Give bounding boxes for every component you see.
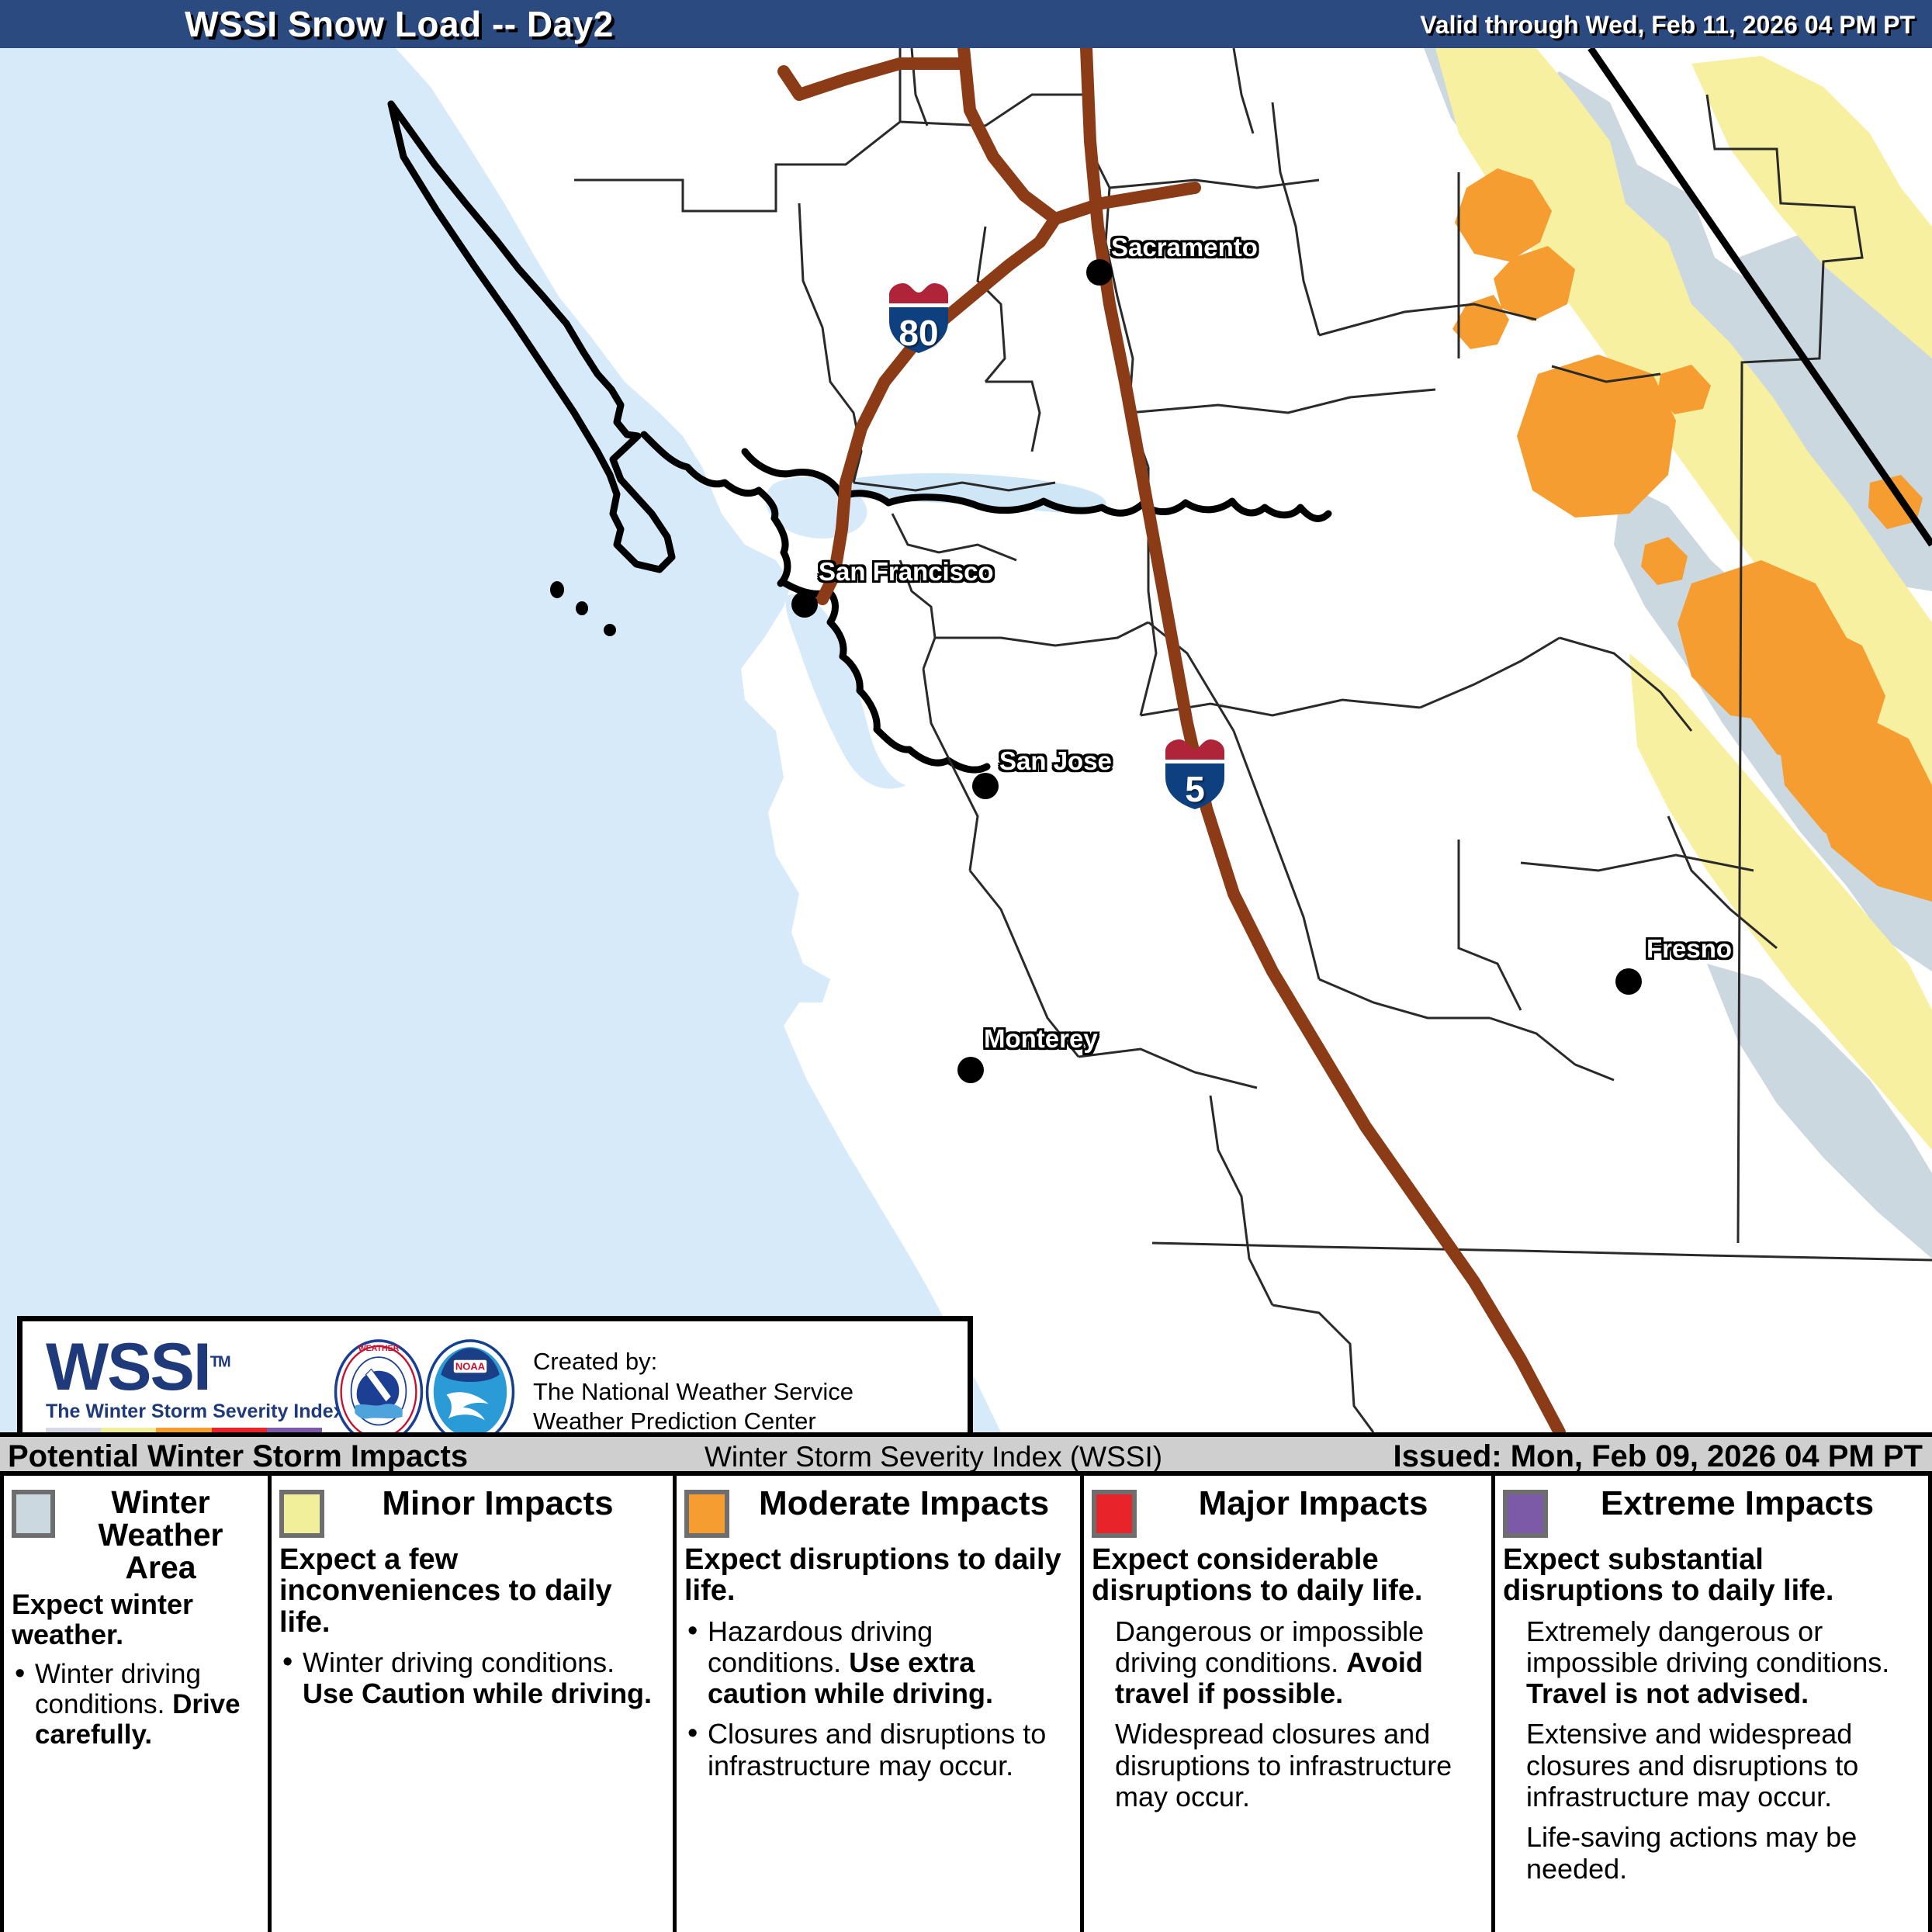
legend-bullets: Winter driving conditions. Use Caution w…: [279, 1647, 665, 1710]
created-by-block: Created by: The National Weather Service…: [533, 1347, 853, 1432]
city-label-sacramento: Sacramento: [1111, 233, 1258, 262]
created-by-line-2: The National Weather Service: [533, 1377, 853, 1407]
legend-bullet: Closures and disruptions to infrastructu…: [684, 1719, 1072, 1781]
wssi-brand-mark: WSSITM The Winter Storm Severity Index: [23, 1336, 333, 1432]
status-bar-left-label: Potential Winter Storm Impacts: [8, 1439, 468, 1474]
legend-bullets: Hazardous driving conditions. Use extra …: [684, 1616, 1072, 1782]
legend-bullet: Extremely dangerous or impossible drivin…: [1503, 1616, 1920, 1710]
legend-bullet: Winter driving conditions. Drive careful…: [12, 1659, 260, 1750]
page-title: WSSI Snow Load -- Day2: [185, 3, 614, 45]
interstate-number-5: 5: [1162, 768, 1227, 810]
wssi-snow-load-map-page: WSSI Snow Load -- Day2 Valid through Wed…: [0, 0, 1932, 1932]
wssi-logo-box: WSSITM The Winter Storm Severity Index: [17, 1316, 973, 1432]
map-canvas[interactable]: Sacramento San Francisco San Jose Fresno…: [0, 48, 1932, 1432]
legend-bullet: Widespread closures and disruptions to i…: [1092, 1719, 1484, 1813]
legend-lead-winter-weather-area: Expect winter weather.: [12, 1590, 260, 1649]
interstate-shield-5: 5: [1162, 737, 1227, 812]
wssi-wordmark: WSSITM: [46, 1336, 333, 1400]
legend-swatch-moderate-impacts: [684, 1490, 729, 1538]
city-dot-sacramento: [1086, 259, 1113, 286]
legend-bullet: Winter driving conditions. Use Caution w…: [279, 1647, 665, 1710]
noaa-seal-icon: NOAA: [424, 1338, 516, 1432]
status-bar-issued-label: Issued: Mon, Feb 09, 2026 04 PM PT: [1394, 1439, 1923, 1474]
legend-title-extreme-impacts: Extreme Impacts: [1548, 1487, 1920, 1522]
impact-legend: Winter Weather Area Expect winter weathe…: [0, 1476, 1932, 1932]
city-dot-fresno: [1615, 968, 1642, 995]
island-farallon-1: [550, 581, 564, 598]
legend-lead-minor-impacts: Expect a few inconveniences to daily lif…: [279, 1544, 665, 1638]
city-label-san-francisco: San Francisco: [819, 557, 994, 587]
legend-header: Major Impacts: [1092, 1487, 1484, 1538]
legend-swatch-major-impacts: [1092, 1490, 1137, 1538]
legend-swatch-extreme-impacts: [1503, 1490, 1548, 1538]
status-bar-center-label: Winter Storm Severity Index (WSSI): [705, 1441, 1162, 1473]
island-farallon-2: [576, 601, 588, 615]
legend-title-major-impacts: Major Impacts: [1137, 1487, 1484, 1522]
interstate-number-80: 80: [886, 312, 951, 354]
legend-bullets: Winter driving conditions. Drive careful…: [12, 1659, 260, 1750]
legend-lead-extreme-impacts: Expect substantial disruptions to daily …: [1503, 1544, 1920, 1607]
legend-swatch-minor-impacts: [279, 1490, 324, 1538]
wssi-subtitle: The Winter Storm Severity Index: [46, 1401, 333, 1423]
legend-bullet: Hazardous driving conditions. Use extra …: [684, 1616, 1072, 1710]
legend-title-winter-weather-area: Winter Weather Area: [55, 1487, 260, 1584]
legend-column-major-impacts[interactable]: Major Impacts Expect considerable disrup…: [1080, 1476, 1491, 1932]
city-label-monterey: Monterey: [984, 1024, 1098, 1054]
legend-header: Moderate Impacts: [684, 1487, 1072, 1538]
legend-bullets: Dangerous or impossible driving conditio…: [1092, 1616, 1484, 1813]
svg-text:NOAA: NOAA: [455, 1361, 486, 1373]
trademark-symbol: TM: [210, 1353, 230, 1370]
legend-column-moderate-impacts[interactable]: Moderate Impacts Expect disruptions to d…: [673, 1476, 1080, 1932]
legend-header: Winter Weather Area: [12, 1487, 260, 1584]
island-farallon-3: [604, 624, 616, 636]
city-dot-monterey: [957, 1057, 984, 1083]
legend-bullet: Dangerous or impossible driving conditio…: [1092, 1616, 1484, 1710]
legend-column-minor-impacts[interactable]: Minor Impacts Expect a few inconvenience…: [268, 1476, 673, 1932]
city-dot-san-francisco: [791, 591, 818, 618]
city-label-fresno: Fresno: [1646, 934, 1732, 964]
legend-lead-major-impacts: Expect considerable disruptions to daily…: [1092, 1544, 1484, 1607]
legend-lead-moderate-impacts: Expect disruptions to daily life.: [684, 1544, 1072, 1607]
title-bar: WSSI Snow Load -- Day2 Valid through Wed…: [0, 0, 1932, 48]
legend-title-minor-impacts: Minor Impacts: [324, 1487, 665, 1522]
city-label-san-jose: San Jose: [999, 746, 1112, 776]
legend-header: Minor Impacts: [279, 1487, 665, 1538]
legend-column-winter-weather-area[interactable]: Winter Weather Area Expect winter weathe…: [4, 1476, 268, 1932]
created-by-line-1: Created by:: [533, 1347, 853, 1376]
legend-column-extreme-impacts[interactable]: Extreme Impacts Expect substantial disru…: [1491, 1476, 1928, 1932]
legend-bullet: Life-saving actions may be needed.: [1503, 1822, 1920, 1885]
svg-text:WEATHER: WEATHER: [358, 1344, 400, 1353]
map-graphics: [0, 48, 1932, 1432]
legend-bullet: Extensive and widespread closures and di…: [1503, 1719, 1920, 1813]
legend-header: Extreme Impacts: [1503, 1487, 1920, 1538]
legend-swatch-winter-weather-area: [12, 1490, 55, 1538]
nws-seal-icon: WEATHER ★ ★ ★: [333, 1338, 424, 1432]
status-bar: Potential Winter Storm Impacts Winter St…: [0, 1432, 1932, 1476]
valid-through-text: Valid through Wed, Feb 11, 2026 04 PM PT: [1420, 11, 1915, 40]
created-by-line-3: Weather Prediction Center: [533, 1407, 853, 1432]
city-dot-san-jose: [972, 773, 999, 799]
interstate-shield-80: 80: [886, 281, 951, 355]
legend-title-moderate-impacts: Moderate Impacts: [729, 1487, 1072, 1522]
legend-bullets: Extremely dangerous or impossible drivin…: [1503, 1616, 1920, 1885]
